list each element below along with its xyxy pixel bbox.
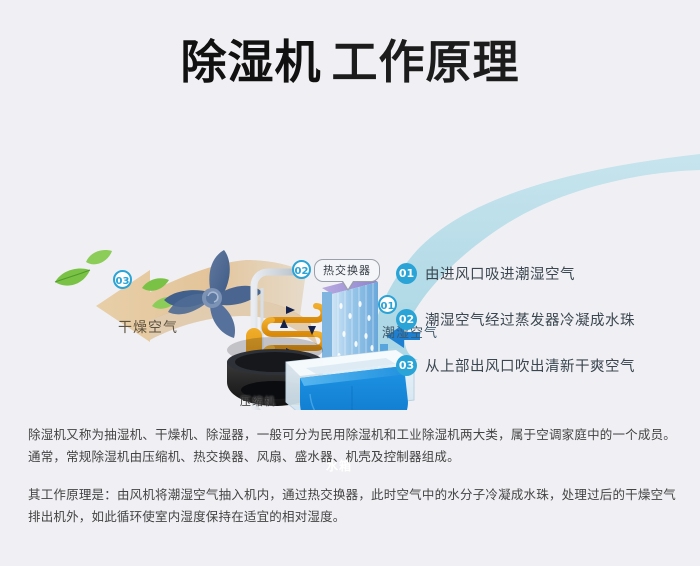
callout-heat-exchanger: 热交换器 — [314, 259, 380, 282]
title-part-2: 工作原理 — [332, 35, 520, 89]
diagram-badge-02: 02 — [292, 260, 311, 279]
legend-text-03: 从上部出风口吹出清新干爽空气 — [425, 355, 635, 376]
diagram-badge-01: 01 — [378, 295, 397, 314]
paragraph-2: 其工作原理是：由风机将潮湿空气抽入机内，通过热交换器，此时空气中的水分子冷凝成水… — [28, 484, 676, 528]
legend-item-03: 03 从上部出风口吹出清新干爽空气 — [396, 347, 686, 383]
legend-badge-02: 02 — [396, 309, 417, 330]
infographic-page: 除湿机工作原理 — [0, 0, 700, 566]
legend-list: 01 由进风口吸进潮湿空气 02 潮湿空气经过蒸发器冷凝成水珠 03 从上部出风… — [396, 255, 686, 393]
legend-item-01: 01 由进风口吸进潮湿空气 — [396, 255, 686, 291]
legend-text-02: 潮湿空气经过蒸发器冷凝成水珠 — [425, 309, 635, 330]
legend-badge-01: 01 — [396, 263, 417, 284]
legend-badge-03: 03 — [396, 355, 417, 376]
diagram-badge-03: 03 — [113, 270, 132, 289]
label-compressor: 压缩机 — [240, 393, 276, 409]
paragraph-1: 除湿机又称为抽湿机、干燥机、除湿器，一般可分为民用除湿机和工业除湿机两大类，属于… — [28, 424, 676, 468]
legend-text-01: 由进风口吸进潮湿空气 — [425, 263, 575, 284]
legend-item-02: 02 潮湿空气经过蒸发器冷凝成水珠 — [396, 301, 686, 337]
body-copy: 除湿机又称为抽湿机、干燥机、除湿器，一般可分为民用除湿机和工业除湿机两大类，属于… — [28, 424, 676, 528]
label-dry-air: 干燥空气 — [118, 317, 178, 337]
page-title: 除湿机工作原理 — [0, 34, 700, 90]
title-part-1: 除湿机 — [181, 35, 322, 89]
